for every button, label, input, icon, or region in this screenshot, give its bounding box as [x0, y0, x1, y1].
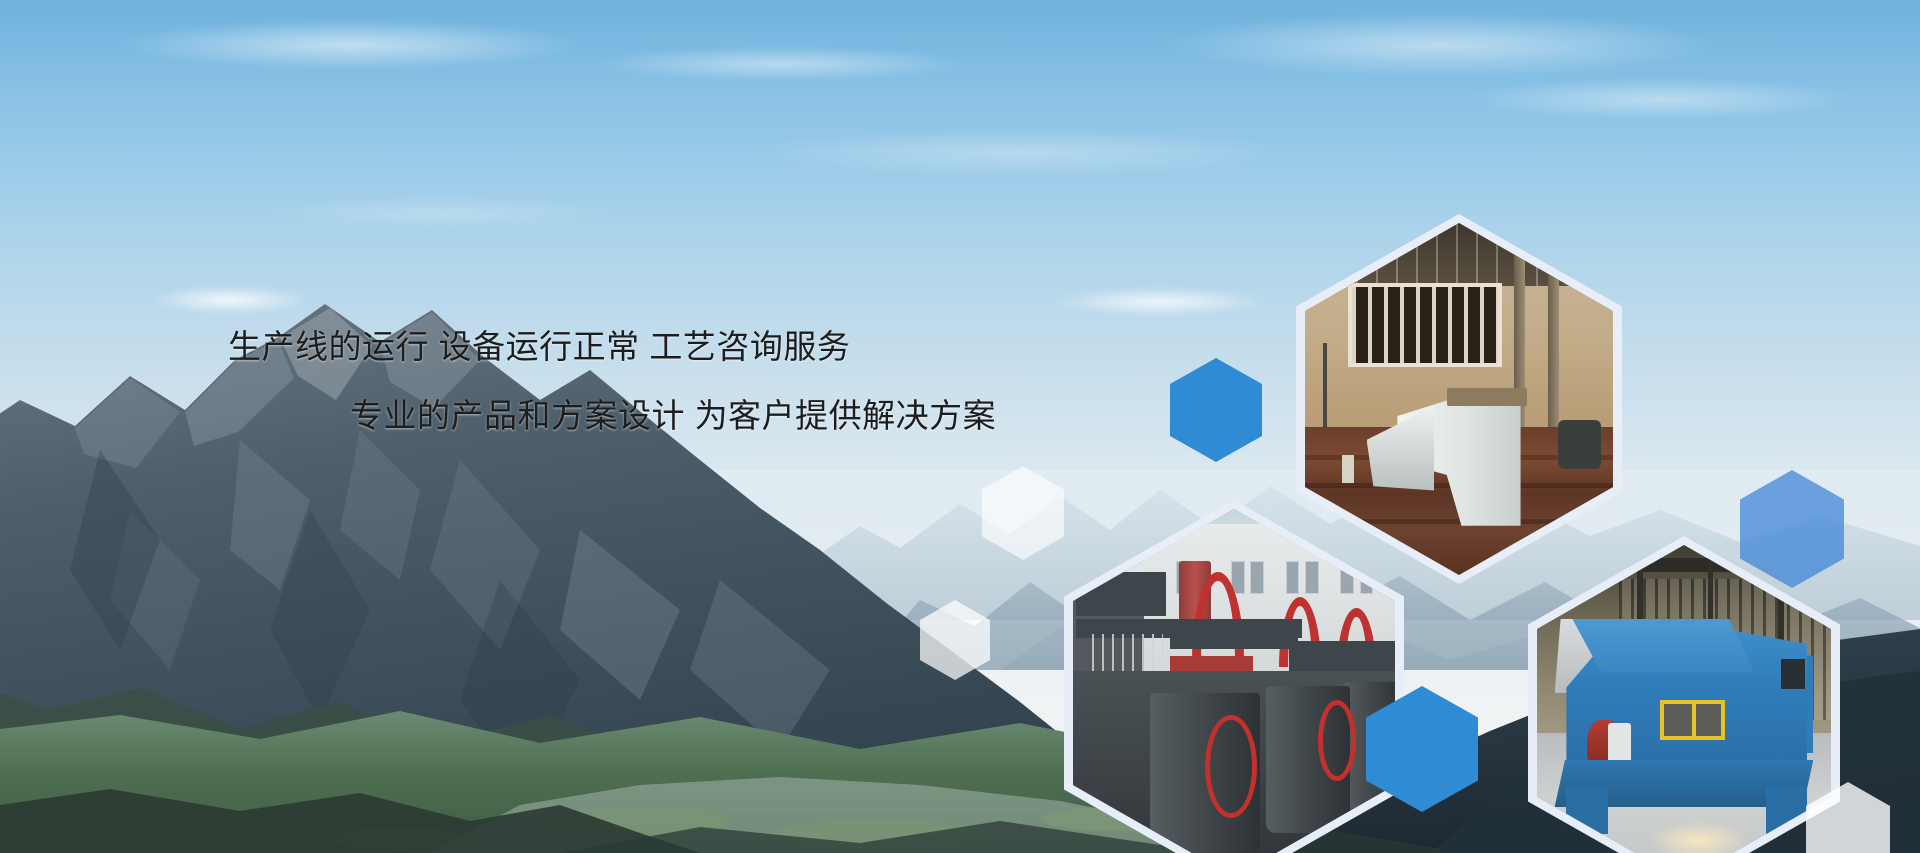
- headline-line-1: 生产线的运行 设备运行正常 工艺咨询服务: [228, 330, 1048, 363]
- cloud-wisp: [520, 40, 1040, 88]
- headline-block: 生产线的运行 设备运行正常 工艺咨询服务 专业的产品和方案设计 为客户提供解决方…: [228, 330, 1048, 432]
- cloud-wisp: [1390, 70, 1920, 128]
- cloud-wisp: [640, 120, 1400, 186]
- cloud-wisp: [200, 190, 680, 236]
- scene-white-ladle-outside-plant: [1305, 223, 1613, 575]
- headline-line-2: 专业的产品和方案设计 为客户提供解决方案: [350, 399, 1048, 432]
- hero-banner: 生产线的运行 设备运行正常 工艺咨询服务 专业的产品和方案设计 为客户提供解决方…: [0, 0, 1920, 853]
- photo-hexagon-inner: [1305, 223, 1613, 575]
